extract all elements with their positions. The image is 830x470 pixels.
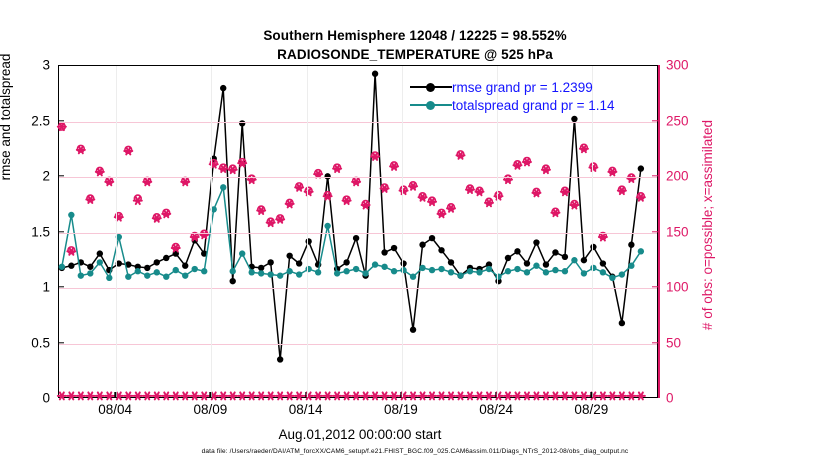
- legend-item-totalspread[interactable]: totalspread grand pr = 1.14: [410, 96, 658, 114]
- y-tick-mark-left: [58, 231, 64, 232]
- y-axis-right-line: [658, 65, 660, 398]
- gridline-vertical: [211, 66, 212, 397]
- y-tick-mark-right: [652, 342, 658, 343]
- y-tick-mark-left: [58, 342, 64, 343]
- x-tick-label: 08/04: [98, 402, 132, 417]
- gridline-horizontal: [59, 122, 657, 123]
- x-tick-mark: [114, 392, 115, 398]
- gridline-vertical: [402, 66, 403, 397]
- x-tick-mark: [495, 392, 496, 398]
- x-tick-label: 08/24: [479, 402, 513, 417]
- x-tick-mark: [305, 392, 306, 398]
- x-tick-mark: [400, 392, 401, 398]
- y-tick-label-right: 0: [666, 391, 706, 406]
- gridline-vertical: [307, 66, 308, 397]
- gridline-horizontal: [59, 288, 657, 289]
- y-axis-left-label: rmse and totalspread: [0, 2, 13, 232]
- y-tick-mark-right: [652, 286, 658, 287]
- y-tick-label-left: 0: [6, 391, 50, 406]
- plot-area: [58, 65, 658, 398]
- title-line-1: Southern Hemisphere 12048 / 12225 = 98.5…: [0, 26, 830, 45]
- legend-item-rmse[interactable]: rmse grand pr = 1.2399: [410, 78, 658, 96]
- series-open-circle: [58, 123, 644, 253]
- gridline-vertical: [592, 66, 593, 397]
- gridline-horizontal: [59, 233, 657, 234]
- y-tick-mark-right: [652, 120, 658, 121]
- data-file-footer: data file: /Users/raeder/DAI/ATM_forcXX/…: [0, 448, 830, 455]
- y-tick-label-left: 1: [6, 280, 50, 295]
- x-axis-label: Aug.01,2012 00:00:00 start: [0, 427, 720, 442]
- series-asterisk: [58, 392, 645, 399]
- y-tick-mark-left: [58, 286, 64, 287]
- x-tick-label: 08/14: [289, 402, 323, 417]
- x-tick-mark: [210, 392, 211, 398]
- legend-swatch-totalspread: [410, 97, 452, 113]
- legend-label-totalspread: totalspread grand pr = 1.14: [452, 98, 615, 113]
- y-axis-right-label: # of obs: o=possible; x=assimilated: [700, 60, 715, 390]
- series-asterisk: [58, 123, 645, 255]
- series-filled-circle: [59, 71, 644, 363]
- x-tick-label: 08/29: [574, 402, 608, 417]
- y-tick-label-left: 0.5: [6, 335, 50, 350]
- y-tick-mark-right: [652, 231, 658, 232]
- y-tick-mark-left: [58, 120, 64, 121]
- x-tick-label: 08/09: [193, 402, 227, 417]
- y-tick-mark-left: [58, 175, 64, 176]
- plot-data-layer: [59, 66, 657, 397]
- x-tick-label: 08/19: [384, 402, 418, 417]
- gridline-vertical: [116, 66, 117, 397]
- gridline-vertical: [497, 66, 498, 397]
- y-tick-mark-right: [652, 175, 658, 176]
- gridline-horizontal: [59, 344, 657, 345]
- gridline-horizontal: [59, 177, 657, 178]
- x-tick-mark: [591, 392, 592, 398]
- chart-legend: rmse grand pr = 1.2399 totalspread grand…: [410, 78, 658, 114]
- legend-swatch-rmse: [410, 79, 452, 95]
- legend-label-rmse: rmse grand pr = 1.2399: [452, 80, 593, 95]
